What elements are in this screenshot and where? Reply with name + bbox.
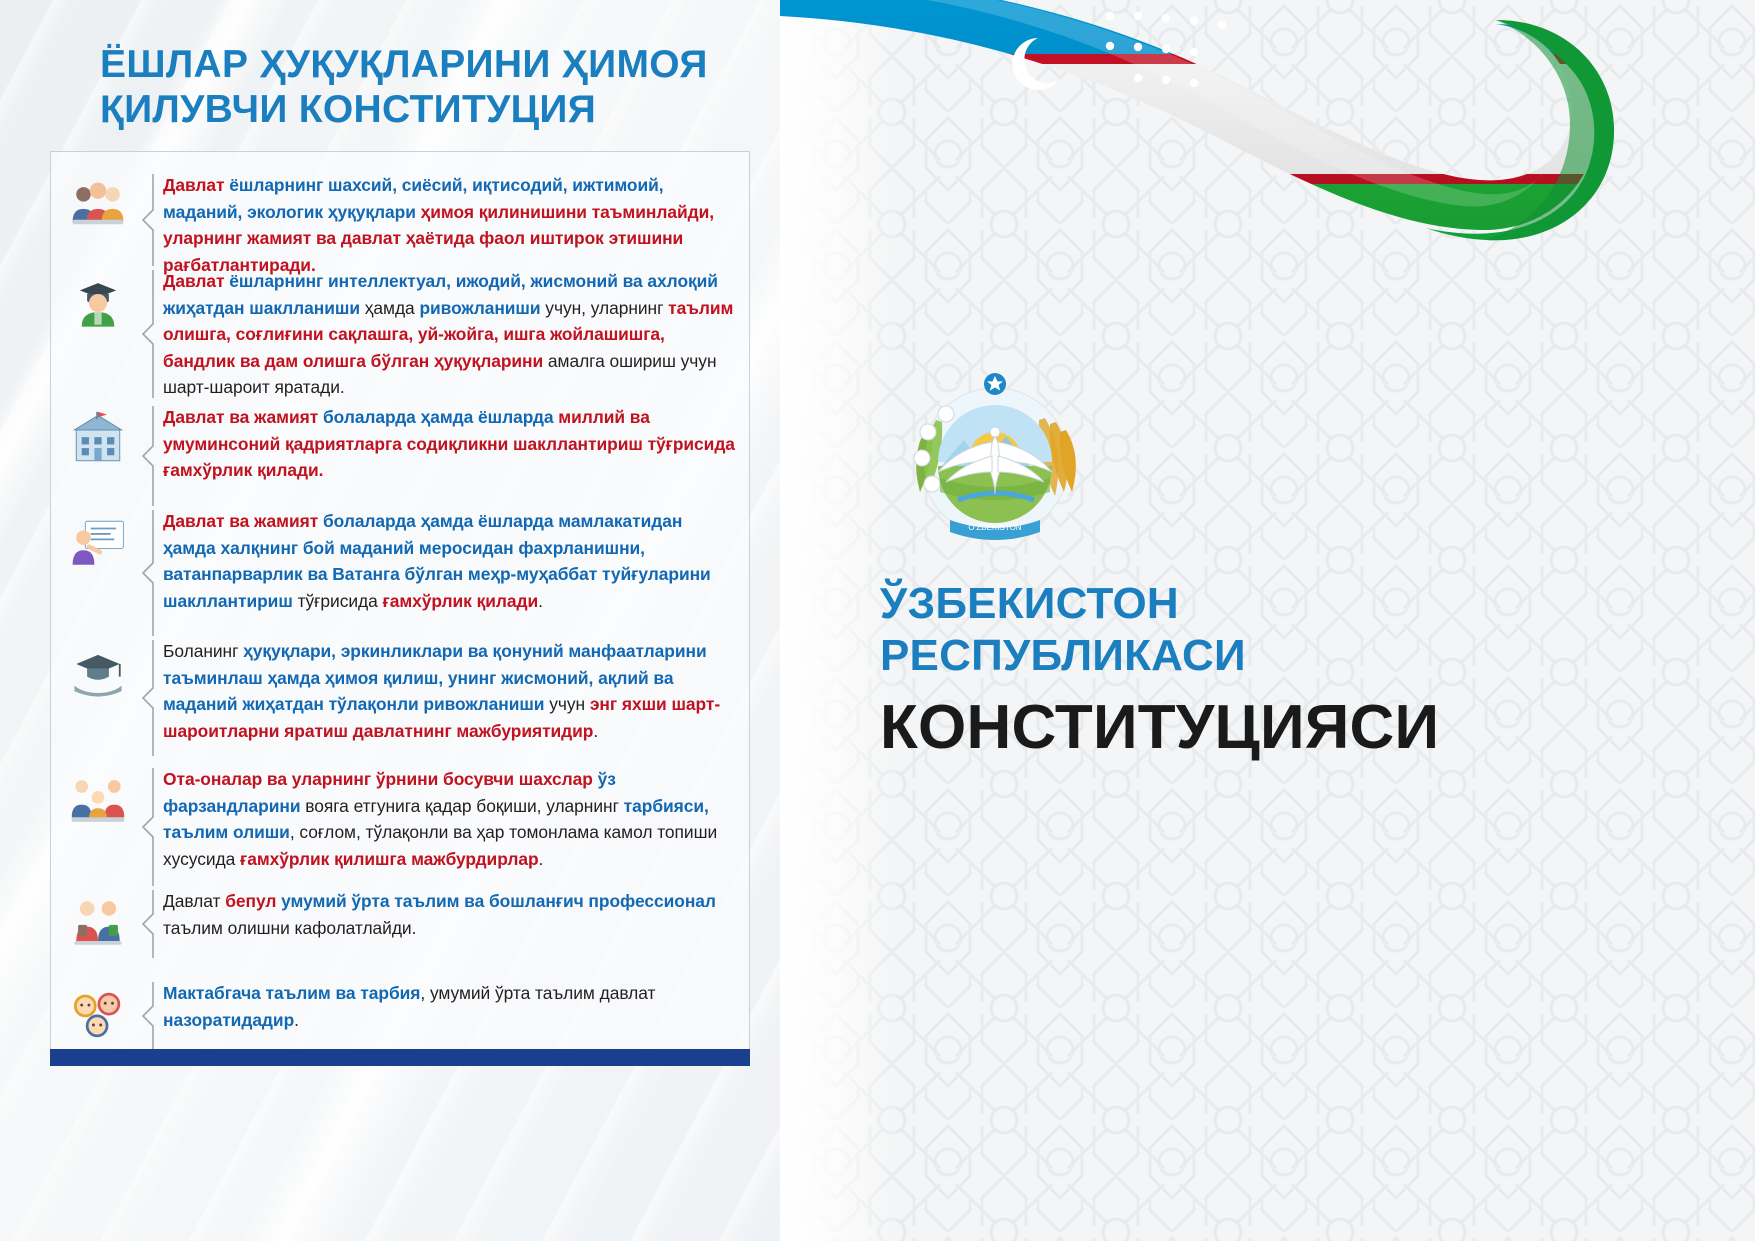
text-segment: . <box>538 591 543 611</box>
text-segment: учун <box>549 694 590 714</box>
provision-row: Давлат ёшларнинг интеллектуал, ижодий, ж… <box>51 268 749 401</box>
brochure-page: ЁШЛАР ҲУҚУҚЛАРИНИ ҲИМОЯ ҚИЛУВЧИ КОНСТИТУ… <box>0 0 1755 1241</box>
graduate-person-icon <box>61 268 135 332</box>
card-bottom-bar <box>50 1049 750 1066</box>
text-segment: бепул <box>225 891 281 911</box>
provision-text: Мактабгача таълим ва тарбия, умумий ўрта… <box>163 980 735 1033</box>
bracket-divider-icon <box>135 766 163 888</box>
provision-row: Мактабгача таълим ва тарбия, умумий ўрта… <box>51 980 749 1052</box>
provision-text: Давлат ёшларнинг интеллектуал, ижодий, ж… <box>163 268 735 401</box>
bracket-divider-icon <box>135 172 163 268</box>
uzbekistan-flag-ribbon <box>780 0 1755 414</box>
provision-text: Давлат бепул умумий ўрта таълим ва бошла… <box>163 888 735 941</box>
title-line-2: ҚИЛУВЧИ КОНСТИТУЦИЯ <box>100 87 800 132</box>
text-segment: . <box>593 721 598 741</box>
provision-row: Боланинг ҳуқуқлари, эркинликлари ва қону… <box>51 638 749 758</box>
page-title: ЁШЛАР ҲУҚУҚЛАРИНИ ҲИМОЯ ҚИЛУВЧИ КОНСТИТУ… <box>100 42 800 132</box>
title-line-1: ЁШЛАР ҲУҚУҚЛАРИНИ ҲИМОЯ <box>100 42 800 87</box>
text-segment: Давлат <box>163 891 225 911</box>
parents-child-icon <box>61 766 135 830</box>
bracket-divider-icon <box>135 404 163 508</box>
text-segment: тўғрисида <box>298 591 383 611</box>
kindergarten-kids-icon <box>61 980 135 1044</box>
bracket-divider-icon <box>135 508 163 638</box>
republic-line-1: ЎЗБЕКИСТОН <box>880 578 1640 630</box>
schoolchildren-icon <box>61 888 135 952</box>
school-building-icon <box>61 404 135 468</box>
text-segment: Давлат ва жамият <box>163 511 323 531</box>
text-segment: ғамхўрлик қилишга мажбурдирлар <box>240 849 539 869</box>
text-segment: Давлат <box>163 271 229 291</box>
teacher-board-icon <box>61 508 135 572</box>
text-segment: Ота-оналар ва уларнинг ўрнини босувчи ша… <box>163 769 598 789</box>
bracket-divider-icon <box>135 980 163 1052</box>
text-segment: болаларда ҳамда ёшларда <box>323 407 558 427</box>
provision-row: Давлат ва жамият болаларда ҳамда ёшларда… <box>51 508 749 638</box>
provision-row: Давлат ёшларнинг шахсий, сиёсий, иқтисод… <box>51 172 749 278</box>
provision-text: Давлат ва жамият болаларда ҳамда ёшларда… <box>163 404 735 484</box>
provision-row: Давлат ва жамият болаларда ҳамда ёшларда… <box>51 404 749 508</box>
text-segment: . <box>294 1010 299 1030</box>
text-segment: Давлат ва жамият <box>163 407 323 427</box>
provision-text: Ота-оналар ва уларнинг ўрнини босувчи ша… <box>163 766 735 872</box>
provision-row: Давлат бепул умумий ўрта таълим ва бошла… <box>51 888 749 960</box>
family-group-icon <box>61 172 135 236</box>
text-segment: вояга етгунига қадар боқиши, уларнинг <box>305 796 623 816</box>
provision-text: Давлат ёшларнинг шахсий, сиёсий, иқтисод… <box>163 172 735 278</box>
uzbekistan-state-emblem: O‘ZBEKISTON <box>880 370 1110 560</box>
text-segment: таълим олишни кафолатлайди. <box>163 918 416 938</box>
constitution-word: КОНСТИТУЦИЯСИ <box>880 690 1640 766</box>
republic-title: ЎЗБЕКИСТОН РЕСПУБЛИКАСИ КОНСТИТУЦИЯСИ <box>880 578 1640 766</box>
bracket-divider-icon <box>135 638 163 758</box>
text-segment: , умумий ўрта таълим давлат <box>420 983 655 1003</box>
provision-row: Ота-оналар ва уларнинг ўрнини босувчи ша… <box>51 766 749 888</box>
republic-line-2: РЕСПУБЛИКАСИ <box>880 630 1640 682</box>
text-segment: Боланинг <box>163 641 243 661</box>
bracket-divider-icon <box>135 268 163 400</box>
text-segment: умумий ўрта таълим ва бошланғич професси… <box>281 891 716 911</box>
text-segment: ривожланиши <box>419 298 545 318</box>
text-segment: Мактабгача таълим ва тарбия <box>163 983 420 1003</box>
right-panel: O‘ZBEKISTON ЎЗБЕКИСТОН РЕСПУБЛИКАСИ КОНС… <box>780 0 1755 1241</box>
bracket-divider-icon <box>135 888 163 960</box>
left-panel: ЁШЛАР ҲУҚУҚЛАРИНИ ҲИМОЯ ҚИЛУВЧИ КОНСТИТУ… <box>0 0 880 1241</box>
svg-text:O‘ZBEKISTON: O‘ZBEKISTON <box>968 523 1021 532</box>
text-segment: ғамхўрлик қилади <box>383 591 539 611</box>
text-segment: Давлат <box>163 175 229 195</box>
text-segment: назоратидадир <box>163 1010 294 1030</box>
text-segment: ҳамда <box>365 298 420 318</box>
provisions-card: Давлат ёшларнинг шахсий, сиёсий, иқтисод… <box>50 151 750 1056</box>
provision-text: Давлат ва жамият болаларда ҳамда ёшларда… <box>163 508 735 614</box>
graduation-cap-hand-icon <box>61 638 135 702</box>
text-segment: . <box>539 849 544 869</box>
text-segment: учун, уларнинг <box>545 298 668 318</box>
provision-text: Боланинг ҳуқуқлари, эркинликлари ва қону… <box>163 638 735 744</box>
